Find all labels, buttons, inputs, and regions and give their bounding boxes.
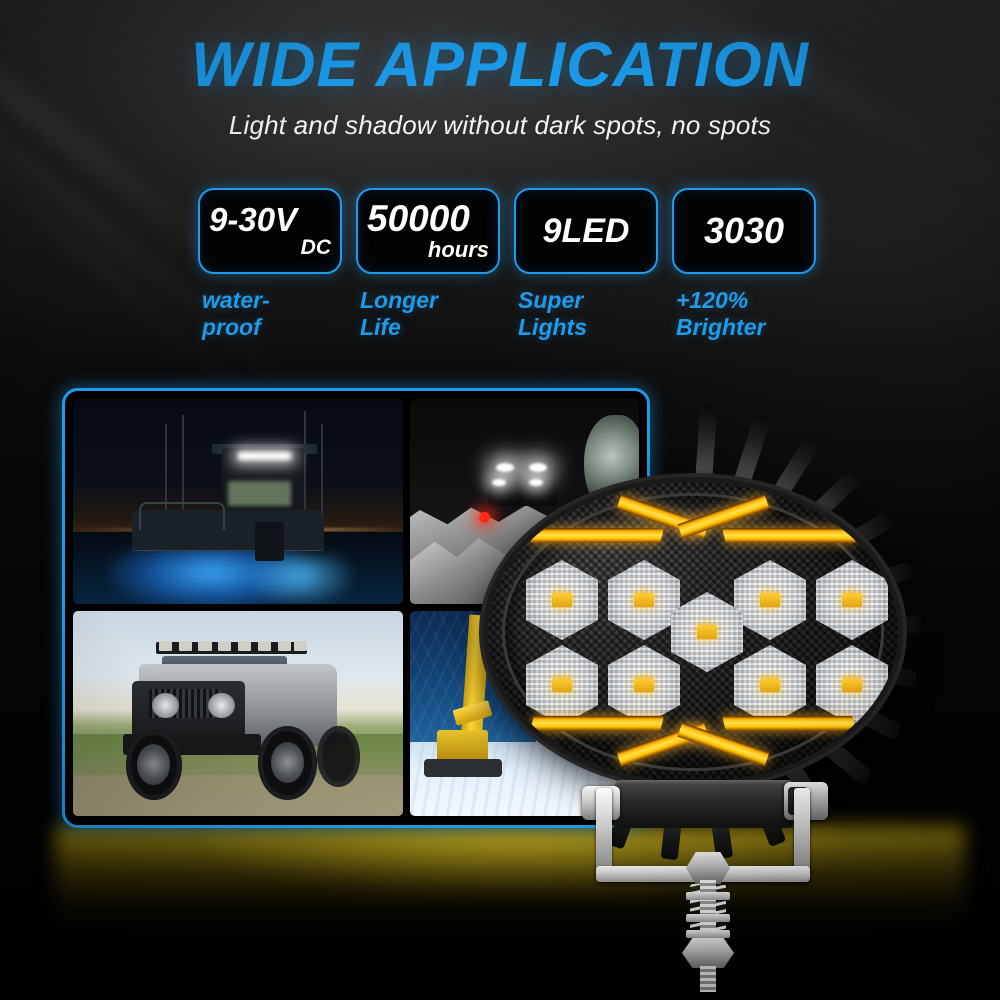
vignette-overlay — [0, 0, 1000, 1000]
marketing-banner: WIDE APPLICATION Light and shadow withou… — [0, 0, 1000, 1000]
